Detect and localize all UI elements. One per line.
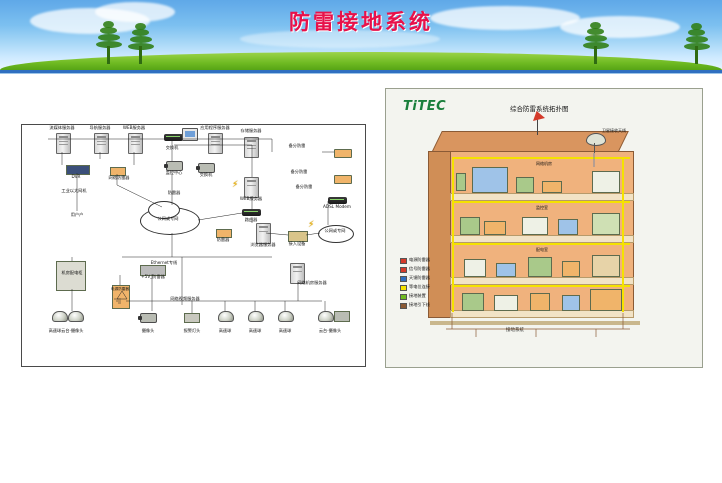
earthing-lines: [386, 89, 702, 367]
legend-swatch: [400, 258, 407, 264]
legend-label: 天馈防雷器: [409, 276, 430, 280]
legend-label: 等电位连接: [409, 285, 430, 289]
integrated-lightning-topology-panel: TiTEC 综合防雷系统拓扑图 网络机房 监控室 配电室 卫星接收天线 接地系统: [385, 88, 703, 368]
header-rule-secondary: [0, 73, 722, 74]
legend-swatch: [400, 285, 407, 291]
legend-swatch: [400, 276, 407, 282]
legend-label: 接地装置: [409, 294, 426, 298]
topology-links: [22, 125, 365, 366]
page-title: 防雷接地系统: [0, 6, 722, 36]
page-banner: 防雷接地系统: [0, 0, 722, 72]
legend-label: 电源防雷器: [409, 258, 430, 262]
legend-swatch: [400, 303, 407, 309]
legend-swatch: [400, 294, 407, 300]
legend-swatch: [400, 267, 407, 273]
legend-label: 信号防雷器: [409, 267, 430, 271]
network-topology-panel: 流媒体服务器 导航服务器 WEB服务器 交换机 应用程序服务器 存储服务器 备分…: [21, 124, 366, 367]
legend-label: 接地引下线: [409, 303, 430, 307]
